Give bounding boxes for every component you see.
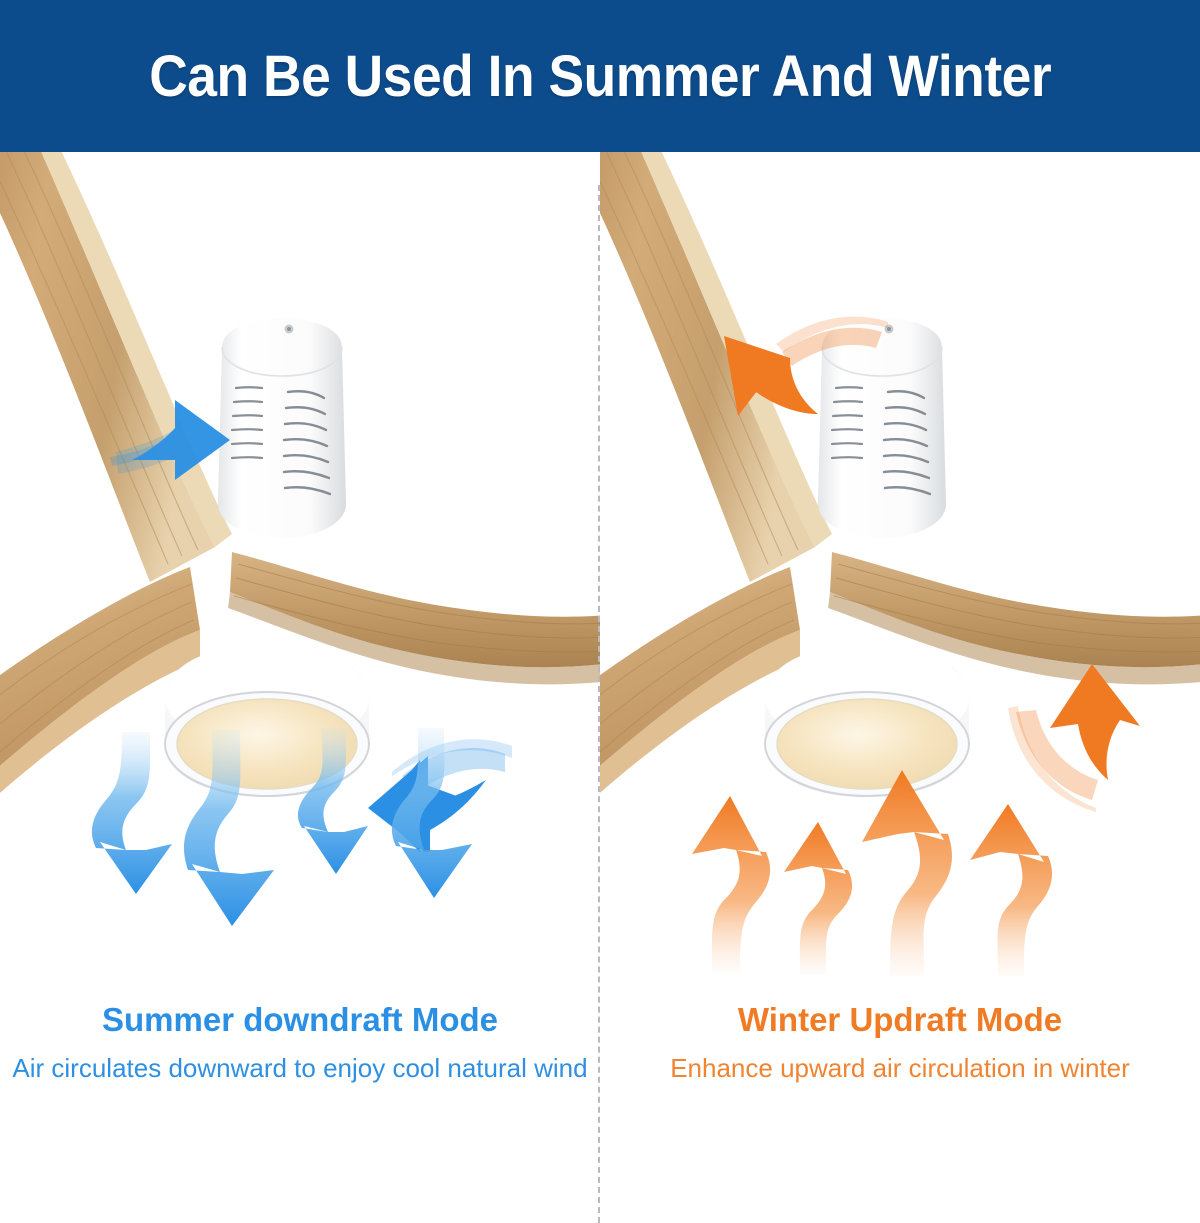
airflow-arrow xyxy=(862,770,952,976)
caption-summer: Summer downdraft Mode Air circulates dow… xyxy=(0,1002,600,1086)
fan-blade-upper-left xyxy=(0,152,232,582)
caption-subtitle-summer: Air circulates downward to enjoy cool na… xyxy=(0,1052,600,1085)
page-title: Can Be Used In Summer And Winter xyxy=(149,43,1051,110)
motor-housing xyxy=(218,318,346,538)
panel-summer: Summer downdraft Mode Air circulates dow… xyxy=(0,152,600,1200)
airflow-arrow xyxy=(92,732,172,894)
panel-divider xyxy=(598,185,600,1223)
airflow-arrows-updraft xyxy=(600,722,1200,982)
fan-blade-upper-left xyxy=(600,152,832,582)
caption-title-summer: Summer downdraft Mode xyxy=(0,1002,600,1038)
airflow-arrow xyxy=(692,796,770,972)
airflow-arrow xyxy=(184,730,274,926)
airflow-arrow xyxy=(298,728,368,874)
caption-subtitle-winter: Enhance upward air circulation in winter xyxy=(600,1052,1200,1085)
infographic-page: Can Be Used In Summer And Winter xyxy=(0,0,1200,1200)
motor-housing xyxy=(818,318,946,538)
airflow-arrow xyxy=(970,804,1052,976)
airflow-arrow xyxy=(784,822,852,974)
airflow-arrows-downdraft xyxy=(0,722,600,982)
panel-winter: Winter Updraft Mode Enhance upward air c… xyxy=(600,152,1200,1200)
panels-container: Summer downdraft Mode Air circulates dow… xyxy=(0,152,1200,1200)
caption-winter: Winter Updraft Mode Enhance upward air c… xyxy=(600,1002,1200,1086)
airflow-arrow xyxy=(392,728,472,898)
caption-title-winter: Winter Updraft Mode xyxy=(600,1002,1200,1038)
page-header: Can Be Used In Summer And Winter xyxy=(0,0,1200,152)
